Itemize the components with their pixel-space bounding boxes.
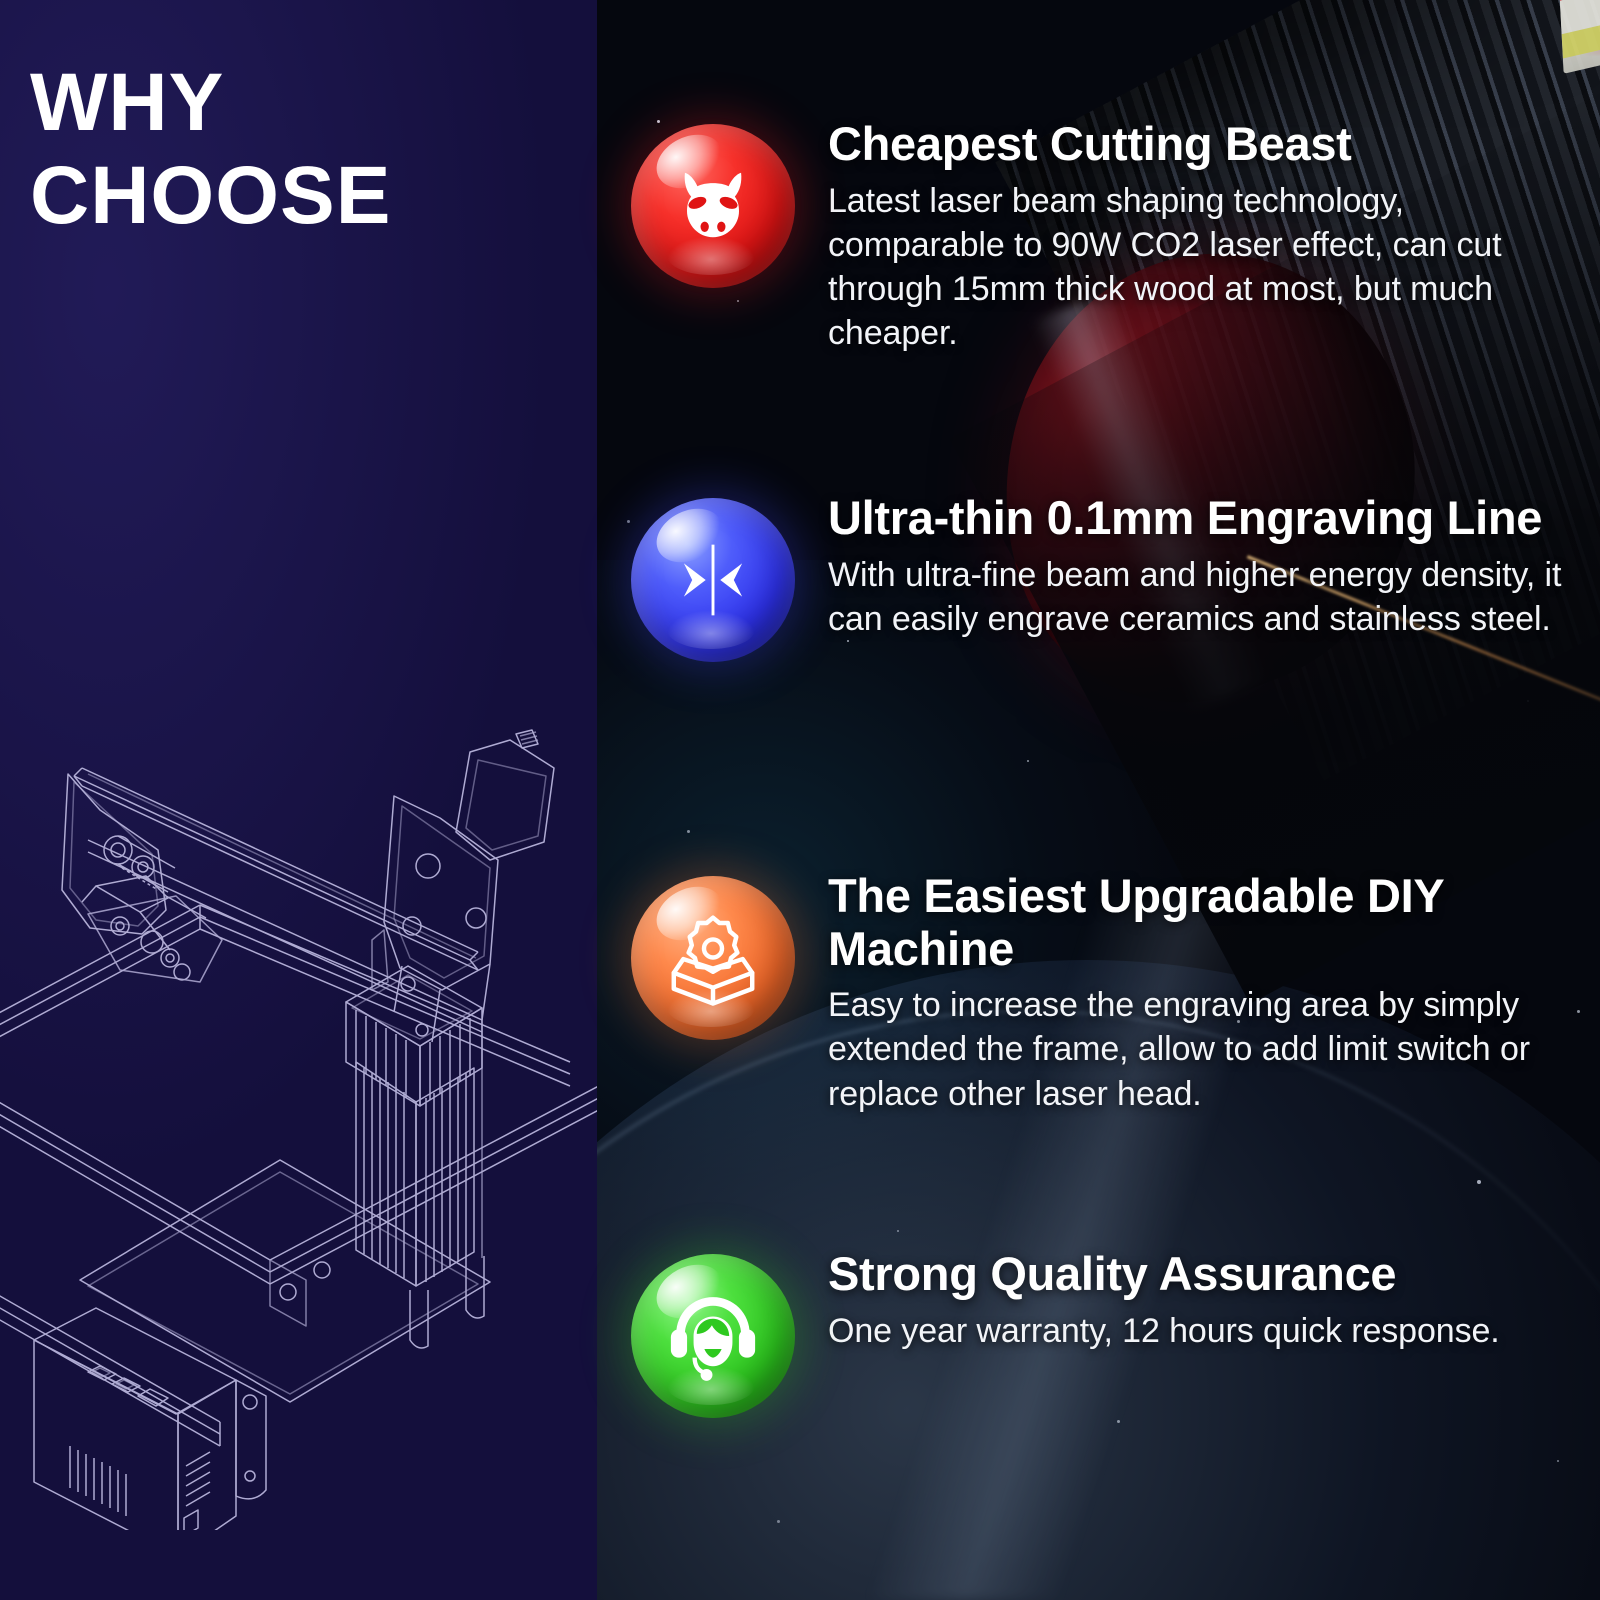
page-title-line-1: WHY	[30, 57, 224, 148]
feature-icon-wrap	[597, 492, 828, 662]
feature-list: Cheapest Cutting Beast Latest laser beam…	[597, 0, 1600, 1600]
feature-text: Strong Quality Assurance One year warran…	[828, 1248, 1600, 1418]
feature-text: Ultra-thin 0.1mm Engraving Line With ult…	[828, 492, 1600, 662]
open-box-gear-icon	[631, 876, 795, 1040]
feature-icon-wrap	[597, 1248, 828, 1418]
left-panel: WHY CHOOSE	[0, 0, 597, 1600]
feature-icon-wrap	[597, 870, 828, 1116]
feature-text: The Easiest Upgradable DIY Machine Easy …	[828, 870, 1600, 1116]
narrow-line-arrows-icon	[631, 498, 795, 662]
bull-head-icon	[631, 124, 795, 288]
laser-engraver-wireframe	[0, 690, 597, 1530]
headset-support-agent-icon	[631, 1254, 795, 1418]
feature-item: Cheapest Cutting Beast Latest laser beam…	[597, 118, 1600, 355]
feature-text: Cheapest Cutting Beast Latest laser beam…	[828, 118, 1600, 355]
feature-title: Cheapest Cutting Beast	[828, 118, 1562, 171]
feature-item: The Easiest Upgradable DIY Machine Easy …	[597, 870, 1600, 1116]
feature-description: One year warranty, 12 hours quick respon…	[828, 1309, 1562, 1353]
page-title-line-2: CHOOSE	[30, 149, 570, 242]
feature-item: Strong Quality Assurance One year warran…	[597, 1248, 1600, 1418]
feature-description: With ultra-fine beam and higher energy d…	[828, 553, 1562, 641]
infographic-page: WHY CHOOSE	[0, 0, 1600, 1600]
feature-icon-wrap	[597, 118, 828, 355]
feature-description: Latest laser beam shaping technology, co…	[828, 179, 1562, 356]
feature-description: Easy to increase the engraving area by s…	[828, 983, 1562, 1116]
page-title: WHY CHOOSE	[30, 56, 570, 243]
feature-item: Ultra-thin 0.1mm Engraving Line With ult…	[597, 492, 1600, 662]
feature-title: The Easiest Upgradable DIY Machine	[828, 870, 1562, 975]
feature-title: Strong Quality Assurance	[828, 1248, 1562, 1301]
feature-title: Ultra-thin 0.1mm Engraving Line	[828, 492, 1562, 545]
